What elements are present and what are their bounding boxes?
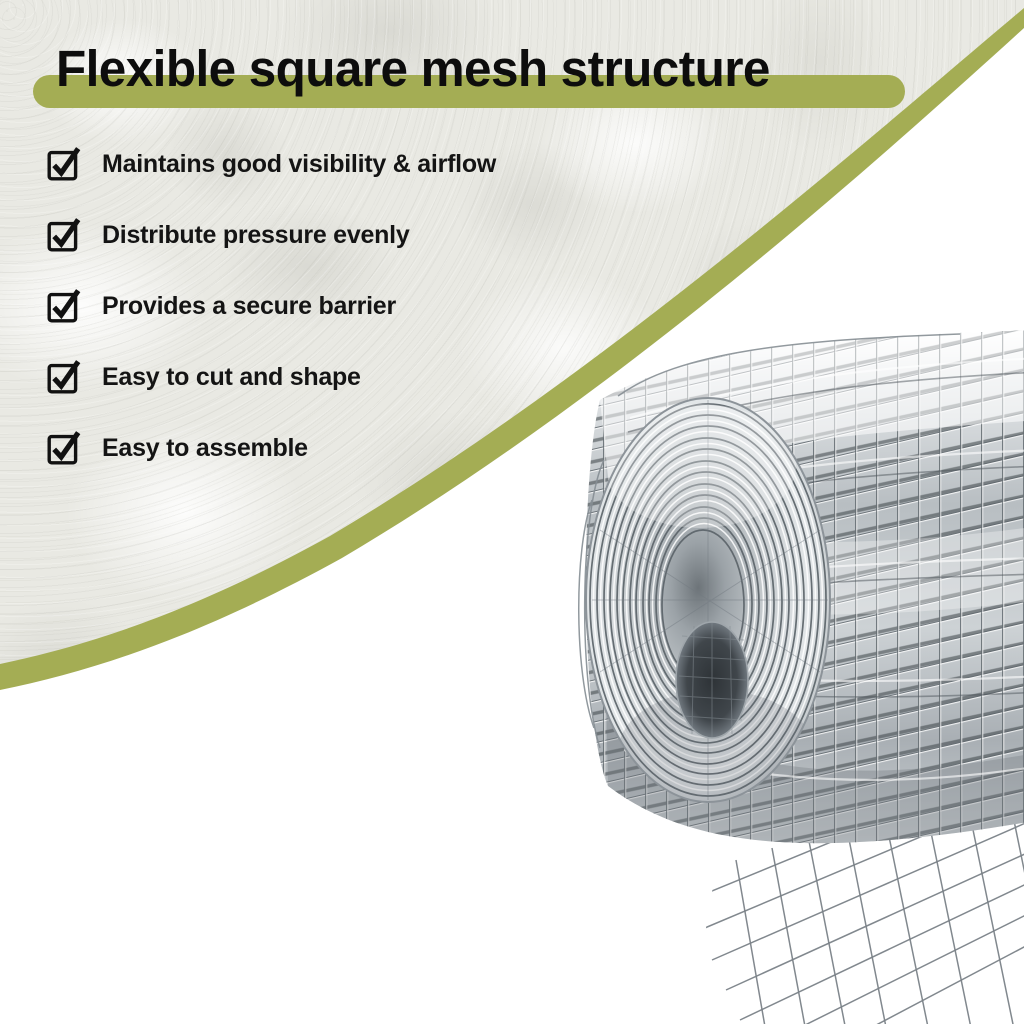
feature-label: Easy to assemble [102, 436, 308, 461]
page-title: Flexible square mesh structure [56, 38, 770, 100]
feature-label: Distribute pressure evenly [102, 223, 410, 248]
product-infographic: Flexible square mesh structure Maintains… [0, 0, 1024, 1024]
checkbox-checked-icon [47, 431, 81, 465]
checkbox-checked-icon [47, 147, 81, 181]
header: Flexible square mesh structure [0, 38, 1024, 118]
checkbox-checked-icon [47, 218, 81, 252]
feature-item: Distribute pressure evenly [47, 212, 667, 258]
feature-label: Easy to cut and shape [102, 365, 361, 390]
feature-label: Provides a secure barrier [102, 294, 396, 319]
checkbox-checked-icon [47, 289, 81, 323]
feature-label: Maintains good visibility & airflow [102, 152, 496, 177]
checkbox-checked-icon [47, 360, 81, 394]
feature-item: Maintains good visibility & airflow [47, 141, 667, 187]
product-image-wire-mesh-roll [540, 300, 1024, 1024]
